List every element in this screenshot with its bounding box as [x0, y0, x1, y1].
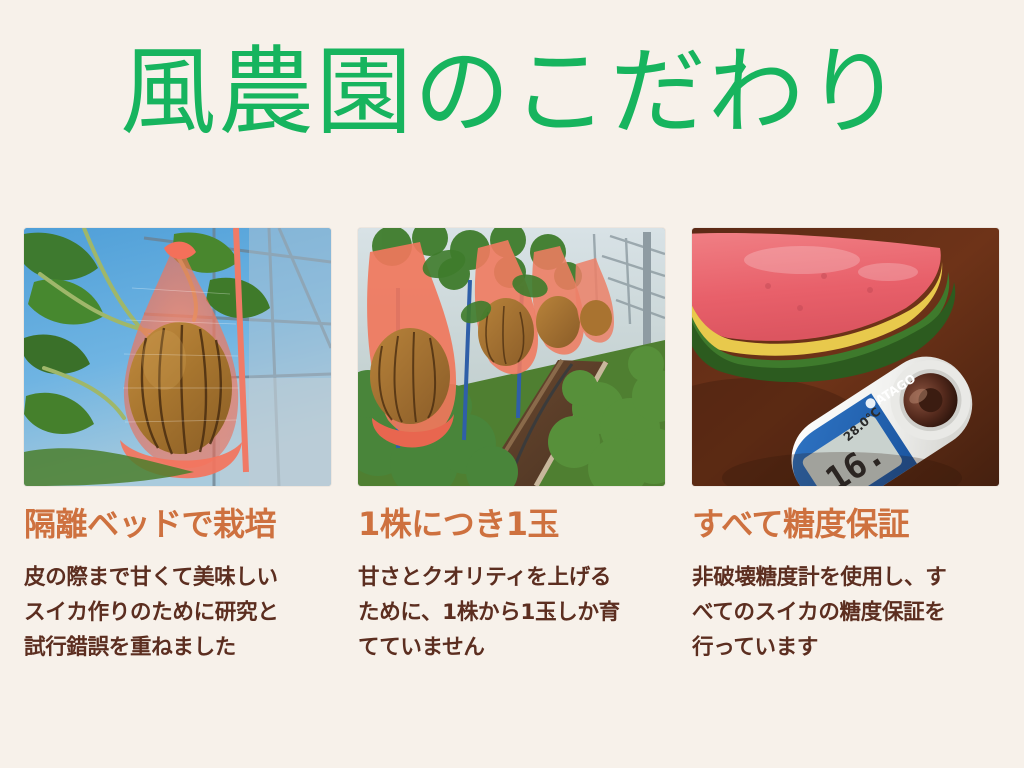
feature-body-2-line-3: てていません: [358, 631, 665, 666]
feature-body-3-line-1: 非破壊糖度計を使用し、す: [692, 561, 999, 596]
photo-2-graphic: [358, 228, 665, 486]
feature-column-2: 1株につき1玉 甘さとクオリティを上げる ために、1株から1玉しか育 てていませ…: [358, 228, 665, 665]
photo-3-graphic: 16. 28.0℃ (0 ~ 53%) ATAGO: [692, 228, 999, 486]
feature-columns: 隔離ベッドで栽培 皮の際まで甘くて美味しい スイカ作りのために研究と 試行錯誤を…: [24, 228, 1000, 665]
feature-body-1-line-1: 皮の際まで甘くて美味しい: [24, 561, 331, 596]
feature-body-1-line-2: スイカ作りのために研究と: [24, 596, 331, 631]
feature-heading-2: 1株につき1玉: [358, 504, 665, 544]
feature-body-2: 甘さとクオリティを上げる ために、1株から1玉しか育 てていません: [358, 561, 665, 665]
feature-body-1: 皮の際まで甘くて美味しい スイカ作りのために研究と 試行錯誤を重ねました: [24, 561, 331, 665]
slide-root: 風農園のこだわり: [0, 0, 1024, 768]
feature-body-3-line-2: べてのスイカの糖度保証を: [692, 596, 999, 631]
feature-column-1: 隔離ベッドで栽培 皮の際まで甘くて美味しい スイカ作りのために研究と 試行錯誤を…: [24, 228, 331, 665]
feature-heading-1: 隔離ベッドで栽培: [24, 504, 331, 544]
feature-body-1-line-3: 試行錯誤を重ねました: [24, 631, 331, 666]
feature-body-3: 非破壊糖度計を使用し、す べてのスイカの糖度保証を 行っています: [692, 561, 999, 665]
feature-column-3: 16. 28.0℃ (0 ~ 53%) ATAGO すべて糖度保証 非破壊糖度計…: [692, 228, 999, 665]
page-title: 風農園のこだわり: [0, 36, 1024, 149]
feature-body-2-line-1: 甘さとクオリティを上げる: [358, 561, 665, 596]
feature-heading-3: すべて糖度保証: [692, 504, 999, 544]
photo-isolated-bed-cultivation: [24, 228, 331, 486]
photo-1-graphic: [24, 228, 331, 486]
feature-body-3-line-3: 行っています: [692, 631, 999, 666]
feature-body-2-line-2: ために、1株から1玉しか育: [358, 596, 665, 631]
photo-one-fruit-per-plant: [358, 228, 665, 486]
photo-brix-guarantee: 16. 28.0℃ (0 ~ 53%) ATAGO: [692, 228, 999, 486]
